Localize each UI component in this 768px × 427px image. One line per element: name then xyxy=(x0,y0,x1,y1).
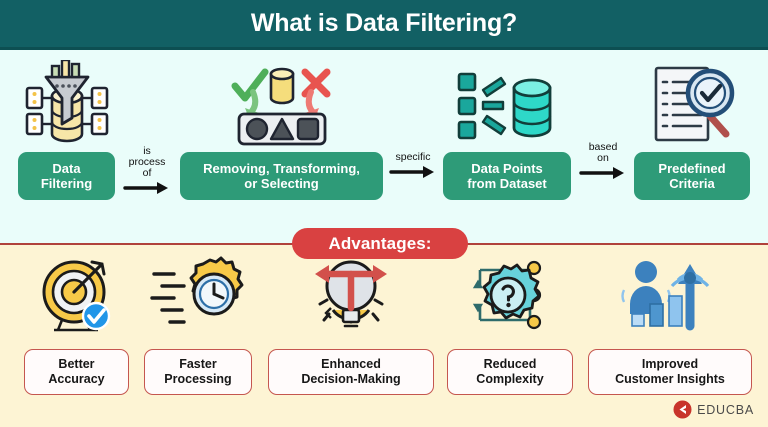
advantage-box-enhanced-decision-making[interactable]: Enhanced Decision-Making xyxy=(268,349,434,395)
flow-connector-2: specific xyxy=(384,152,442,180)
flow-connector-label: specific xyxy=(384,152,442,163)
flow-connector-label: based on xyxy=(574,142,632,164)
arrow-right-icon xyxy=(579,165,627,181)
flow-connector-label: is process of xyxy=(118,146,176,179)
advantage-card-better-accuracy: Better Accuracy xyxy=(24,244,129,404)
question-gear-network-icon xyxy=(464,252,556,343)
advantage-label: Reduced Complexity xyxy=(476,357,543,387)
person-growth-chart-icon xyxy=(620,252,720,343)
advantage-label: Faster Processing xyxy=(164,357,231,387)
advantage-box-better-accuracy[interactable]: Better Accuracy xyxy=(24,349,129,395)
flow-node-box-removing-transforming-selecting[interactable]: Removing, Transforming, or Selecting xyxy=(180,152,383,200)
infographic-canvas: What is Data Filtering? xyxy=(0,0,768,427)
flow-node-box-predefined-criteria[interactable]: Predefined Criteria xyxy=(634,152,750,200)
flow-node-label: Data Filtering xyxy=(41,161,92,191)
educba-logo-icon xyxy=(673,400,692,419)
flow-node-label: Predefined Criteria xyxy=(658,161,725,191)
flow-connector-1: is process of xyxy=(118,146,176,196)
advantage-box-improved-customer-insights[interactable]: Improved Customer Insights xyxy=(588,349,752,395)
target-check-icon xyxy=(34,252,120,343)
funnel-database-icon xyxy=(24,60,110,153)
flow-connector-3: based on xyxy=(574,142,632,181)
advantage-box-faster-processing[interactable]: Faster Processing xyxy=(144,349,252,395)
gear-clock-speed-icon xyxy=(150,252,246,343)
flow-node-box-data-points-from-dataset[interactable]: Data Points from Dataset xyxy=(443,152,571,200)
flow-node-box-data-filtering[interactable]: Data Filtering xyxy=(18,152,115,200)
brand-name: EDUCBA xyxy=(697,403,754,417)
advantage-label: Better Accuracy xyxy=(48,357,104,387)
check-cross-shapes-icon xyxy=(223,60,341,153)
advantage-card-improved-customer-insights: Improved Customer Insights xyxy=(588,244,752,404)
advantages-pill: Advantages: xyxy=(292,228,468,259)
advantage-card-faster-processing: Faster Processing xyxy=(144,244,252,404)
advantage-box-reduced-complexity[interactable]: Reduced Complexity xyxy=(447,349,573,395)
flow-node-data-filtering: Data Filtering xyxy=(18,56,115,196)
advantages-pill-label: Advantages: xyxy=(328,234,431,254)
arrow-right-icon xyxy=(123,180,171,196)
flow-node-predefined-criteria: Predefined Criteria xyxy=(634,56,750,196)
advantage-card-enhanced-decision-making: Enhanced Decision-Making xyxy=(268,244,434,404)
page-title: What is Data Filtering? xyxy=(251,9,517,38)
advantage-card-reduced-complexity: Reduced Complexity xyxy=(447,244,573,404)
header-bar: What is Data Filtering? xyxy=(0,0,768,47)
lightbulb-arrows-icon xyxy=(303,252,399,343)
process-flow-section: Data Filtering is process of xyxy=(0,50,768,240)
brand-logo[interactable]: EDUCBA xyxy=(673,400,754,419)
advantage-label: Improved Customer Insights xyxy=(615,357,725,387)
flow-node-data-points-from-dataset: Data Points from Dataset xyxy=(443,56,571,196)
arrow-right-icon xyxy=(389,164,437,180)
flow-node-label: Data Points from Dataset xyxy=(467,161,546,191)
flow-node-label: Removing, Transforming, or Selecting xyxy=(203,161,360,191)
flow-node-removing-transforming-selecting: Removing, Transforming, or Selecting xyxy=(180,56,383,196)
advantages-section: Better Accuracy xyxy=(0,244,768,427)
nodes-database-icon xyxy=(456,68,558,153)
document-magnifier-check-icon xyxy=(642,60,742,155)
advantage-label: Enhanced Decision-Making xyxy=(301,357,400,387)
